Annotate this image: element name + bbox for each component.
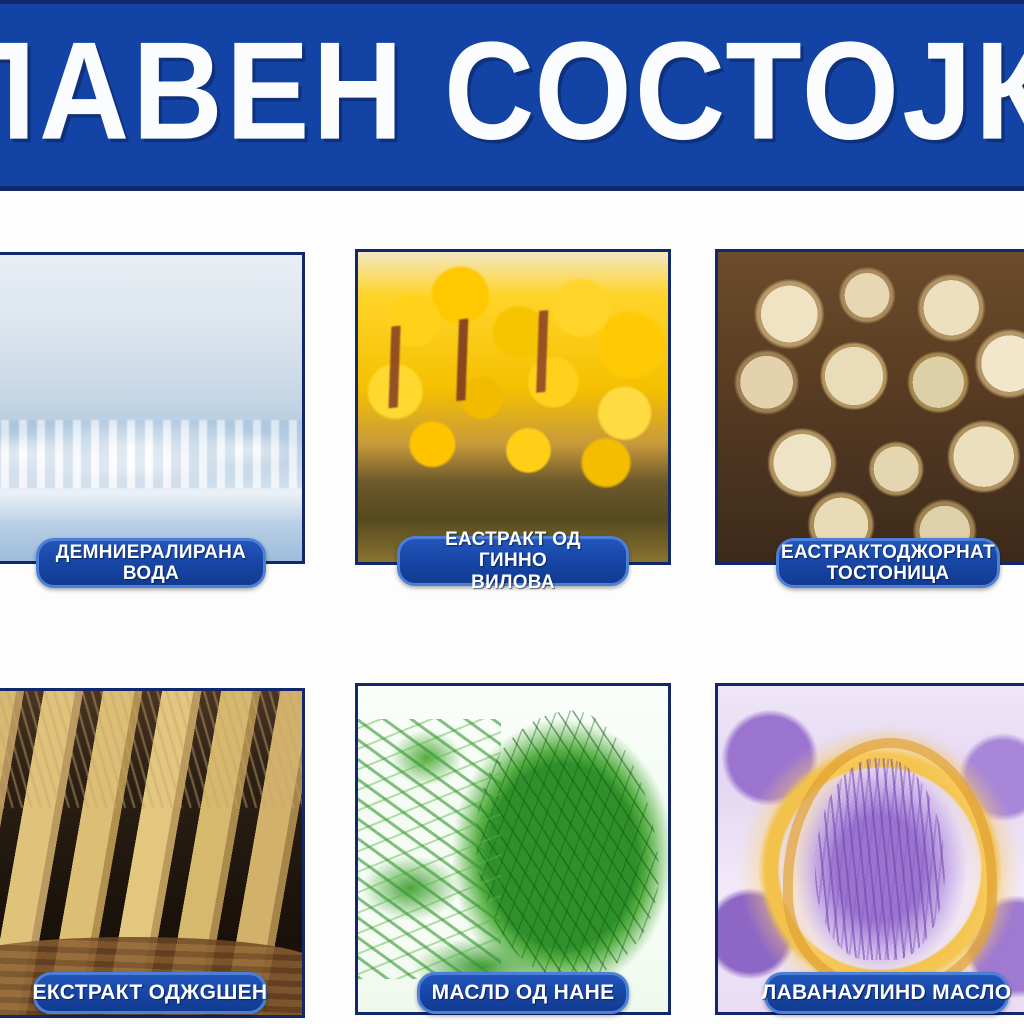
ingredient-label-ginkgo: ЕАСТРАКТ ОД ГИННО ВИЛОВА bbox=[397, 536, 629, 586]
ingredient-card-lavender[interactable] bbox=[715, 683, 1024, 1015]
ingredient-label-astragalus: ЕАСТРАКТОДЖОРНАТ ТОСТОНИЦА bbox=[776, 538, 1000, 588]
ingredient-label-line1: ДЕМНИЕРАЛИРАНА bbox=[56, 542, 246, 563]
mint-leaf-photo bbox=[358, 686, 668, 1012]
ingredient-label-line1: ЕКСТРАКТ ОДЖGШЕН bbox=[33, 981, 268, 1005]
ingredient-label-line1: МАСЛD ОД НАНЕ bbox=[432, 981, 615, 1005]
lavender-oil-drop-photo bbox=[718, 686, 1024, 1012]
ingredients-grid: ДЕМНИЕРАЛИРАНА ВОДА ЕАСТРАКТ ОД ГИННО ВИ… bbox=[0, 191, 1024, 1024]
ginseng-roots-photo bbox=[0, 691, 302, 1015]
ingredient-label-line2: ВОДА bbox=[123, 563, 179, 584]
page-title: ГЛАВЕН СОСТОЈКИ bbox=[0, 22, 1024, 168]
ingredient-label-line1: ЕАСТРАКТОДЖОРНАТ bbox=[781, 542, 995, 563]
ingredient-label-line1: ЕАСТРАКТ ОД ГИННО bbox=[445, 529, 581, 571]
ingredient-card-ginseng[interactable] bbox=[0, 688, 305, 1018]
ingredient-card-ginkgo[interactable] bbox=[355, 249, 671, 565]
ingredient-card-mint[interactable] bbox=[355, 683, 671, 1015]
water-photo bbox=[0, 255, 302, 561]
astragalus-slices-photo bbox=[718, 252, 1024, 562]
ingredient-label-lavender: ЛАВАНАУЛИНD МАСЛО bbox=[764, 972, 1009, 1014]
ingredient-card-astragalus[interactable] bbox=[715, 249, 1024, 565]
ingredient-label-water: ДЕМНИЕРАЛИРАНА ВОДА bbox=[36, 538, 266, 588]
header-banner: ГЛАВЕН СОСТОЈКИ bbox=[0, 0, 1024, 191]
ingredient-label-line2: ВИЛОВА bbox=[471, 572, 555, 593]
ingredient-label-mint: МАСЛD ОД НАНЕ bbox=[417, 972, 629, 1014]
ingredients-poster: ГЛАВЕН СОСТОЈКИ ДЕМНИЕРАЛИРАНА ВОДА ЕАСТ… bbox=[0, 0, 1024, 1024]
ingredient-label-line1: ЛАВАНАУЛИНD МАСЛО bbox=[762, 981, 1012, 1005]
ginkgo-leaves-photo bbox=[358, 252, 668, 562]
ingredient-label-line2: ТОСТОНИЦА bbox=[827, 563, 950, 584]
ingredient-label-ginseng: ЕКСТРАКТ ОДЖGШЕН bbox=[33, 972, 267, 1014]
ingredient-card-water[interactable] bbox=[0, 252, 305, 564]
